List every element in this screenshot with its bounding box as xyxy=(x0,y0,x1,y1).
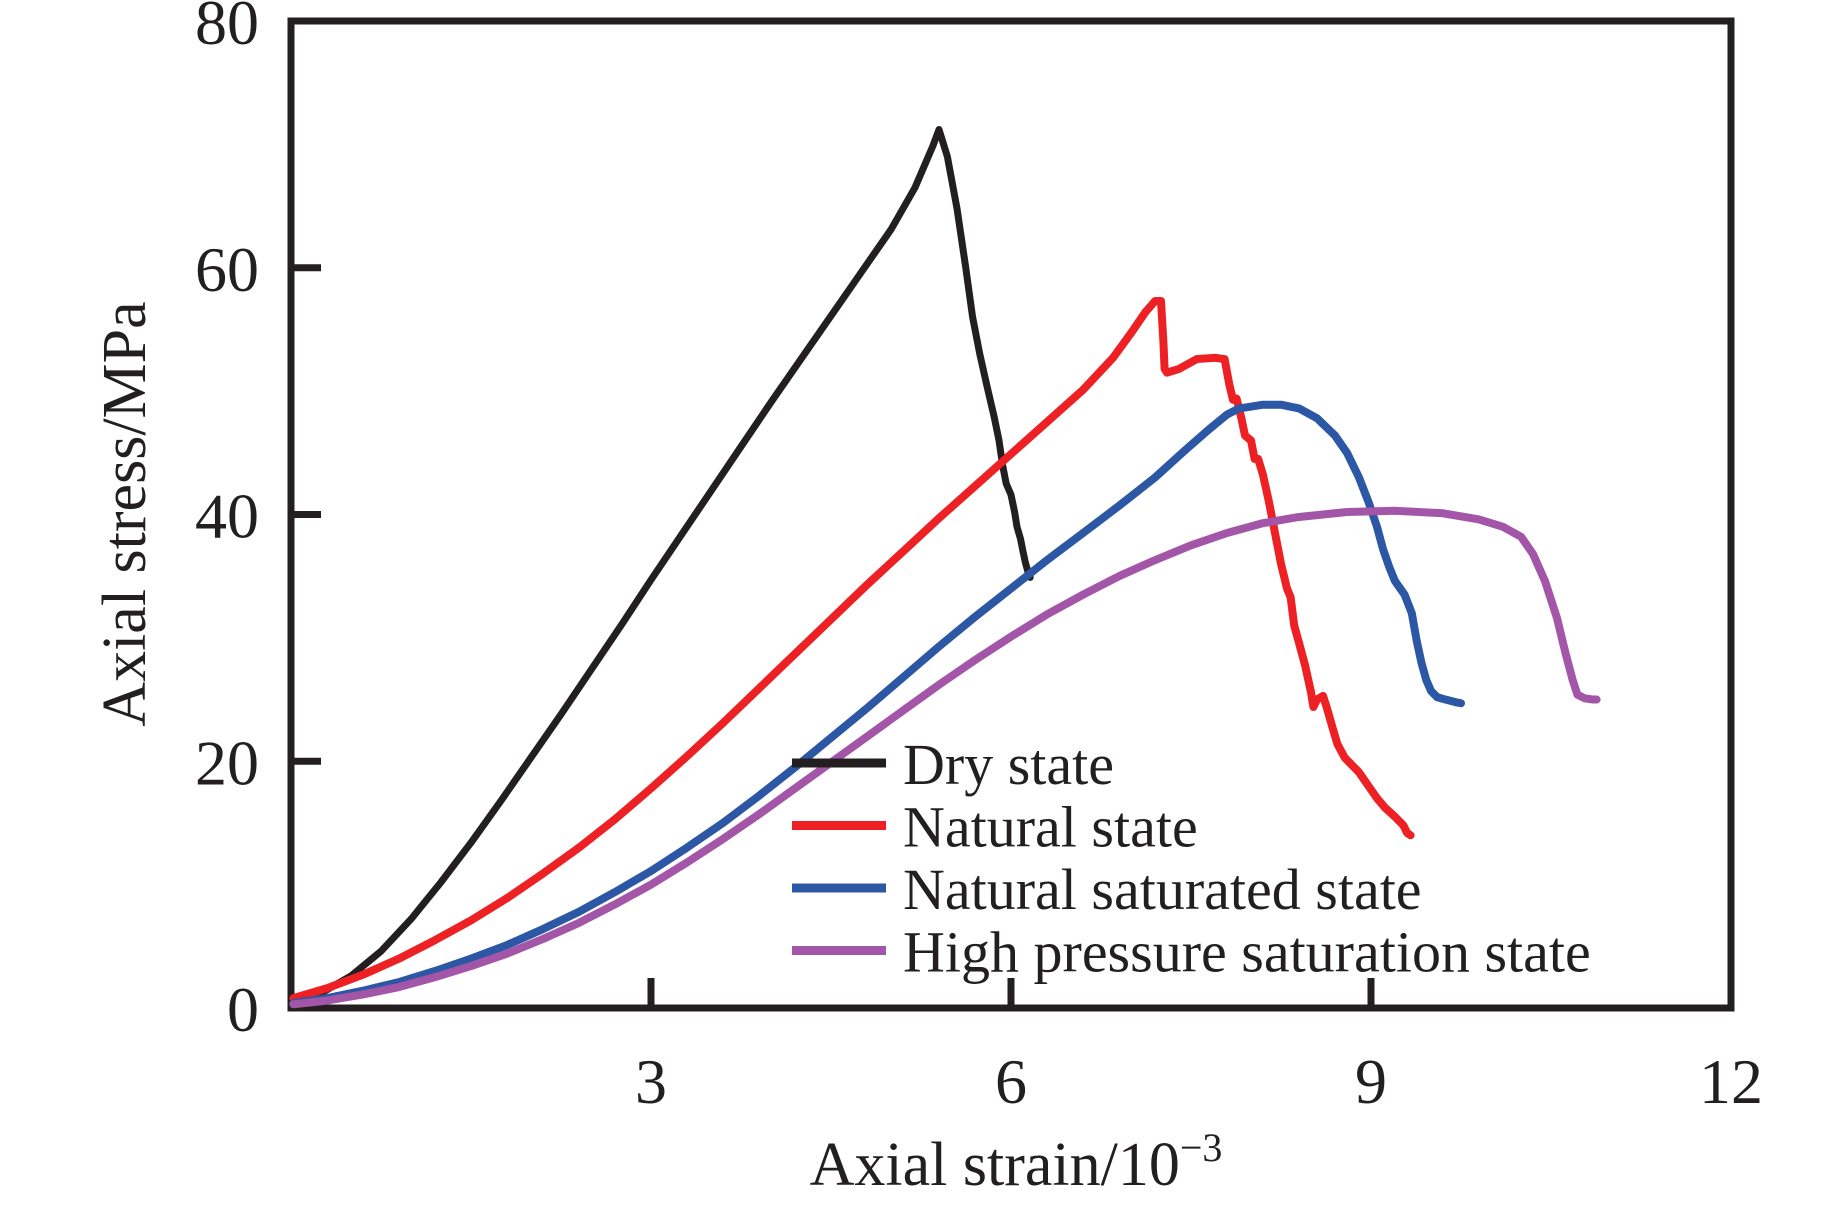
x-axis-title: Axial strain/10−3 xyxy=(810,1125,1223,1199)
y-tick-label: 20 xyxy=(195,727,259,798)
y-axis-title: Axial stress/MPa xyxy=(91,301,159,726)
y-tick-label: 0 xyxy=(227,974,259,1045)
y-tick-label: 80 xyxy=(195,0,259,58)
x-axis-title-exponent: −3 xyxy=(1180,1125,1223,1170)
legend-label-1: Natural state xyxy=(903,795,1198,860)
x-axis-title-main: Axial strain/10 xyxy=(810,1131,1180,1199)
y-tick-label: 40 xyxy=(195,481,259,552)
legend-label-2: Natural saturated state xyxy=(903,857,1422,922)
x-tick-label: 12 xyxy=(1699,1046,1763,1117)
x-tick-label: 6 xyxy=(995,1046,1027,1117)
legend-label-3: High pressure saturation state xyxy=(903,920,1591,985)
chart-figure: 02040608036912 Dry stateNatural stateNat… xyxy=(0,0,1843,1205)
legend-label-0: Dry state xyxy=(903,732,1114,797)
y-tick-label: 60 xyxy=(195,234,259,305)
x-tick-label: 9 xyxy=(1355,1046,1387,1117)
x-tick-label: 3 xyxy=(635,1046,667,1117)
stress-strain-chart: 02040608036912 Dry stateNatural stateNat… xyxy=(0,0,1843,1205)
